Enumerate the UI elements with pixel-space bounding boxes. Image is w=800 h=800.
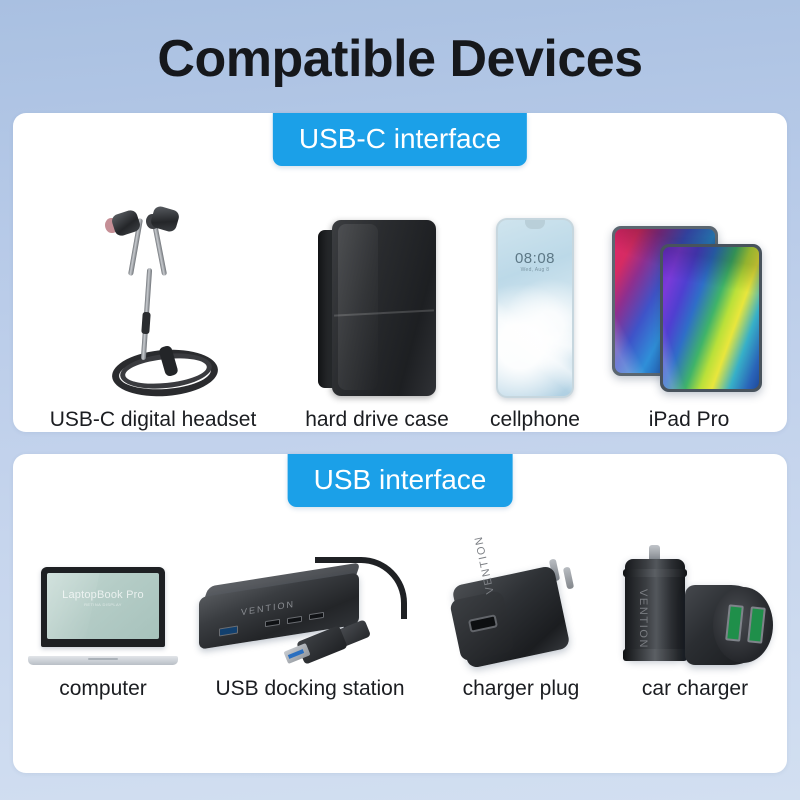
- laptop-sub-text: RETINA DISPLAY: [28, 602, 178, 607]
- device-item-usbc-digital-headset: USB-C digital headset: [22, 206, 284, 432]
- device-item-car-charger: VENTION car charger: [609, 545, 781, 773]
- laptop-icon: LaptopBook Pro RETINA DISPLAY: [28, 567, 178, 671]
- device-label: charger plug: [463, 677, 580, 701]
- page-title: Compatible Devices: [0, 0, 800, 90]
- car-brand-text: VENTION: [637, 589, 649, 649]
- phone-clock: 08:08: [498, 250, 572, 267]
- device-list-usb: LaptopBook Pro RETINA DISPLAY computer V…: [13, 512, 787, 773]
- section-badge-usbc: USB-C interface: [273, 113, 527, 166]
- device-item-cellphone: 08:08 Wed, Aug 8 cellphone: [470, 218, 600, 432]
- device-label: cellphone: [490, 408, 580, 432]
- device-label: hard drive case: [305, 408, 449, 432]
- device-item-ipad-pro: iPad Pro: [600, 226, 778, 432]
- device-label: car charger: [642, 677, 748, 701]
- device-label: iPad Pro: [649, 408, 730, 432]
- section-card-usbc: USB-C interface USB-C digital headset: [13, 113, 787, 432]
- device-item-charger-plug: VENTION charger plug: [433, 559, 609, 773]
- device-label: USB-C digital headset: [50, 408, 257, 432]
- car-charger-icon: VENTION: [611, 545, 779, 671]
- phone-notch: [525, 220, 545, 229]
- section-badge-usb: USB interface: [288, 454, 513, 507]
- phone-date: Wed, Aug 8: [498, 267, 572, 273]
- device-label: computer: [59, 677, 147, 701]
- device-list-usbc: USB-C digital headset hard drive case 08…: [13, 171, 787, 432]
- hard-drive-icon: [302, 214, 452, 402]
- device-item-computer: LaptopBook Pro RETINA DISPLAY computer: [19, 567, 187, 773]
- wall-charger-icon: VENTION: [451, 559, 591, 671]
- device-item-usb-docking-station: VENTION USB docking station: [187, 551, 433, 773]
- laptop-brand-text: LaptopBook Pro: [28, 589, 178, 601]
- device-label: USB docking station: [215, 677, 404, 701]
- smartphone-icon: 08:08 Wed, Aug 8: [486, 218, 584, 402]
- tablet-icon: [606, 226, 772, 402]
- section-card-usb: USB interface LaptopBook Pro RETINA DISP…: [13, 454, 787, 773]
- usb-hub-icon: VENTION: [195, 551, 425, 671]
- device-item-hard-drive-case: hard drive case: [284, 214, 470, 432]
- earbuds-icon: [58, 206, 248, 402]
